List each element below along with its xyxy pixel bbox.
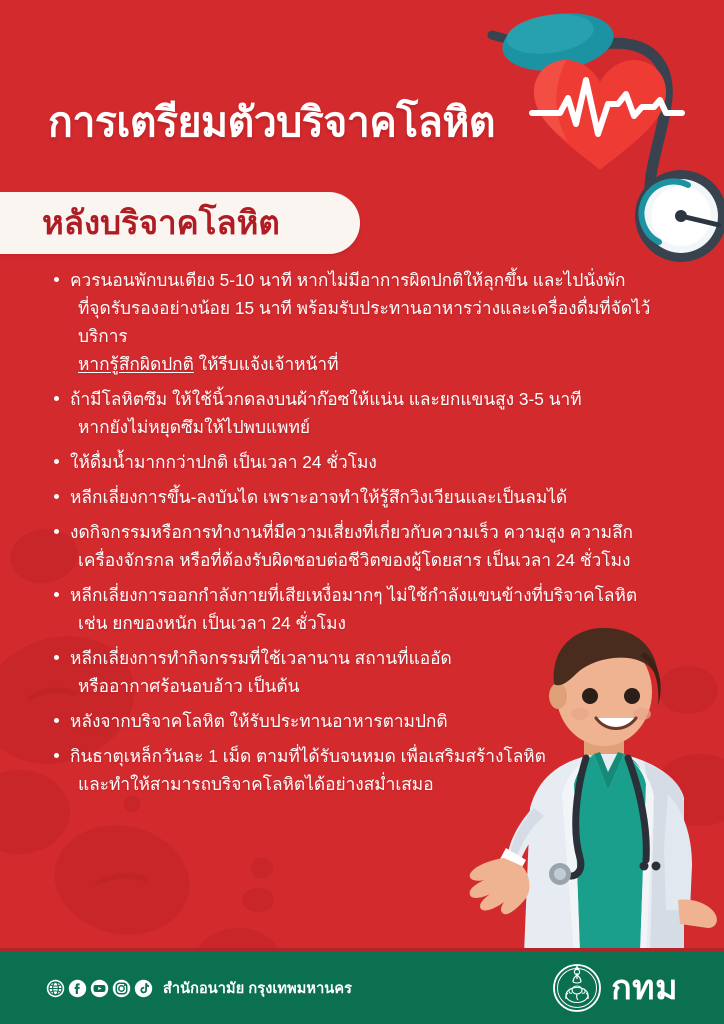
list-item: หลีกเลี่ยงการทำกิจกรรมที่ใช้เวลานาน สถาน… xyxy=(48,644,688,700)
social-icon-row xyxy=(46,979,153,998)
footer-logo-group: กทม xyxy=(552,963,678,1013)
list-item: ให้ดื่มน้ำมากกว่าปกติ เป็นเวลา 24 ชั่วโม… xyxy=(48,448,688,476)
bullet-line: หลีกเลี่ยงการออกกำลังกายที่เสียเหงื่อมาก… xyxy=(70,581,688,609)
poster-canvas: การเตรียมตัวบริจาคโลหิต หลังบริจาคโลหิต xyxy=(0,0,724,1024)
bullet-line: กินธาตุเหล็กวันละ 1 เม็ด ตามที่ได้รับจนห… xyxy=(70,742,688,770)
list-item: หลีกเลี่ยงการออกกำลังกายที่เสียเหงื่อมาก… xyxy=(48,581,688,637)
bullet-line: ควรนอนพักบนเตียง 5-10 นาที หากไม่มีอาการ… xyxy=(70,266,688,294)
bullet-list: ควรนอนพักบนเตียง 5-10 นาที หากไม่มีอาการ… xyxy=(48,266,688,805)
list-item: งดกิจกรรมหรือการทำงานที่มีความเสี่ยงที่เ… xyxy=(48,518,688,574)
bullet-line: และทำให้สามารถบริจาคโลหิตได้อย่างสม่ำเสม… xyxy=(70,770,688,798)
underlined-text: หากรู้สึกผิดปกติ xyxy=(78,354,194,374)
page-title: การเตรียมตัวบริจาคโลหิต xyxy=(48,100,495,145)
bullet-line: ที่จุดรับรองอย่างน้อย 15 นาที พร้อมรับปร… xyxy=(70,294,688,350)
footer-organization-name: สำนักอนามัย กรุงเทพมหานคร xyxy=(163,977,352,1000)
section-heading-pill: หลังบริจาคโลหิต xyxy=(0,192,360,254)
bma-indra-erawan-emblem xyxy=(552,963,602,1013)
bullet-line: ถ้ามีโลหิตซึม ให้ใช้นิ้วกดลงบนผ้าก๊อซให้… xyxy=(70,385,688,413)
bullet-line: หลีกเลี่ยงการทำกิจกรรมที่ใช้เวลานาน สถาน… xyxy=(70,644,688,672)
bma-logo-text: กทม xyxy=(611,971,678,1005)
list-item: หลีกเลี่ยงการขึ้น-ลงบันได เพราะอาจทำให้ร… xyxy=(48,483,688,511)
bullet-line: ให้ดื่มน้ำมากกว่าปกติ เป็นเวลา 24 ชั่วโม… xyxy=(70,448,688,476)
bullet-line: หากยังไม่หยุดซึมให้ไปพบแพทย์ xyxy=(70,413,688,441)
list-item: ถ้ามีโลหิตซึม ให้ใช้นิ้วกดลงบนผ้าก๊อซให้… xyxy=(48,385,688,441)
bullet-line: เช่น ยกของหนัก เป็นเวลา 24 ชั่วโมง xyxy=(70,609,688,637)
bullet-line: หรืออากาศร้อนอบอ้าว เป็นต้น xyxy=(70,672,688,700)
instagram-icon[interactable] xyxy=(112,979,131,998)
bullet-line-with-underline: หากรู้สึกผิดปกติ ให้รีบแจ้งเจ้าหน้าที่ xyxy=(70,350,688,378)
list-item: ควรนอนพักบนเตียง 5-10 นาที หากไม่มีอาการ… xyxy=(48,266,688,378)
facebook-icon[interactable] xyxy=(68,979,87,998)
website-icon[interactable] xyxy=(46,979,65,998)
bullet-line: งดกิจกรรมหรือการทำงานที่มีความเสี่ยงที่เ… xyxy=(70,518,688,546)
list-item: หลังจากบริจาคโลหิต ให้รับประทานอาหารตามป… xyxy=(48,707,688,735)
footer-bar: สำนักอนามัย กรุงเทพมหานคร กทม xyxy=(0,952,724,1024)
tiktok-icon[interactable] xyxy=(134,979,153,998)
footer-left-group: สำนักอนามัย กรุงเทพมหานคร xyxy=(46,977,352,1000)
list-item: กินธาตุเหล็กวันละ 1 เม็ด ตามที่ได้รับจนห… xyxy=(48,742,688,798)
title-container: การเตรียมตัวบริจาคโลหิต xyxy=(0,88,724,158)
section-heading-text: หลังบริจาคโลหิต xyxy=(42,206,280,241)
bullet-line: หลีกเลี่ยงการขึ้น-ลงบันได เพราะอาจทำให้ร… xyxy=(70,483,688,511)
bullet-line: เครื่องจักรกล หรือที่ต้องรับผิดชอบต่อชีว… xyxy=(70,546,688,574)
pressure-gauge xyxy=(635,170,724,262)
bullet-line: หลังจากบริจาคโลหิต ให้รับประทานอาหารตามป… xyxy=(70,707,688,735)
youtube-icon[interactable] xyxy=(90,979,109,998)
trailing-text: ให้รีบแจ้งเจ้าหน้าที่ xyxy=(194,354,339,374)
